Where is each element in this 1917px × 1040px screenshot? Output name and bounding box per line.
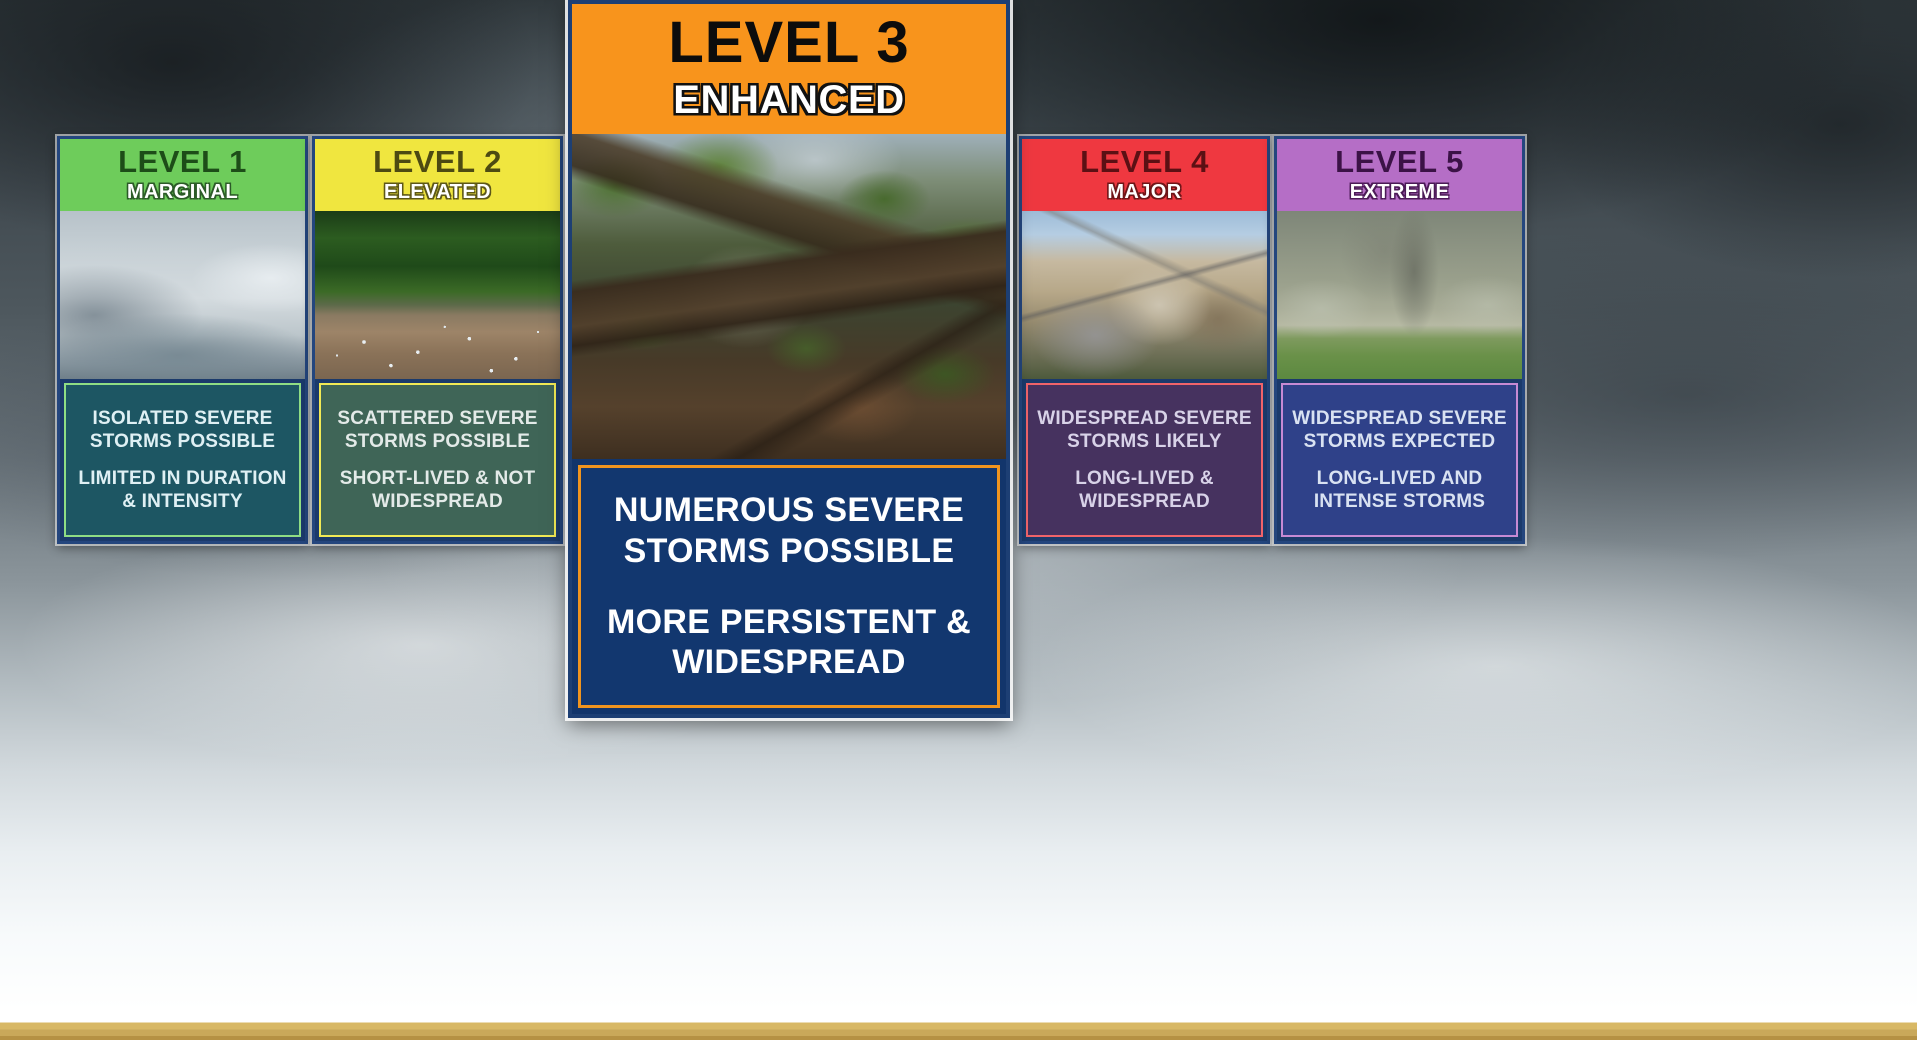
risk-card-level-4-level-label: LEVEL 4 <box>1026 146 1263 177</box>
risk-card-level-2[interactable]: LEVEL 2 ELEVATED SCATTERED SEVERE STORMS… <box>312 136 563 544</box>
risk-card-level-1-header: LEVEL 1 MARGINAL <box>60 139 305 211</box>
risk-card-level-4[interactable]: LEVEL 4 MAJOR WIDESPREAD SEVERE STORMS L… <box>1019 136 1270 544</box>
risk-card-level-1-level-label: LEVEL 1 <box>64 146 301 177</box>
risk-card-level-3-header: LEVEL 3 ENHANCED <box>572 4 1006 134</box>
risk-card-level-3-level-label: LEVEL 3 <box>578 14 1000 72</box>
severe-weather-risk-graphic: LEVEL 1 MARGINAL ISOLATED SEVERE STORMS … <box>0 0 1917 1040</box>
risk-card-level-1[interactable]: LEVEL 1 MARGINAL ISOLATED SEVERE STORMS … <box>57 136 308 544</box>
risk-card-level-4-text-wrap: WIDESPREAD SEVERE STORMS LIKELY LONG-LIV… <box>1022 379 1267 541</box>
risk-card-level-2-text-panel: SCATTERED SEVERE STORMS POSSIBLE SHORT-L… <box>319 383 556 537</box>
destroyed-house-photo <box>1022 211 1267 379</box>
risk-card-level-1-text-panel: ISOLATED SEVERE STORMS POSSIBLE LIMITED … <box>64 383 301 537</box>
risk-level-card-row: LEVEL 1 MARGINAL ISOLATED SEVERE STORMS … <box>0 0 1917 1040</box>
rain-shower-over-water-photo <box>60 211 305 379</box>
risk-card-level-2-text-wrap: SCATTERED SEVERE STORMS POSSIBLE SHORT-L… <box>315 379 560 541</box>
risk-card-level-4-header: LEVEL 4 MAJOR <box>1022 139 1267 211</box>
risk-card-level-5-header: LEVEL 5 EXTREME <box>1277 139 1522 211</box>
risk-card-level-5-text-wrap: WIDESPREAD SEVERE STORMS EXPECTED LONG-L… <box>1277 379 1522 541</box>
risk-card-level-1-text-wrap: ISOLATED SEVERE STORMS POSSIBLE LIMITED … <box>60 379 305 541</box>
risk-card-level-4-text-panel: WIDESPREAD SEVERE STORMS LIKELY LONG-LIV… <box>1026 383 1263 537</box>
risk-card-level-4-line-1: WIDESPREAD SEVERE STORMS LIKELY <box>1037 407 1252 453</box>
risk-card-level-4-risk-name: MAJOR <box>1026 182 1263 202</box>
risk-card-level-1-line-2: LIMITED IN DURATION & INTENSITY <box>78 467 286 513</box>
tree-fallen-on-house-photo <box>572 134 1006 459</box>
risk-card-level-2-risk-name: ELEVATED <box>319 182 556 202</box>
risk-card-level-2-line-2: SHORT-LIVED & NOT WIDESPREAD <box>340 467 536 513</box>
risk-card-level-5-line-1: WIDESPREAD SEVERE STORMS EXPECTED <box>1292 407 1507 453</box>
risk-card-level-1-risk-name: MARGINAL <box>64 182 301 202</box>
risk-card-level-3-risk-name: ENHANCED <box>578 80 1000 120</box>
risk-card-level-2-level-label: LEVEL 2 <box>319 146 556 177</box>
risk-card-level-5-text-panel: WIDESPREAD SEVERE STORMS EXPECTED LONG-L… <box>1281 383 1518 537</box>
risk-card-level-3-line-2: MORE PERSISTENT & WIDESPREAD <box>607 602 971 684</box>
risk-card-level-5-risk-name: EXTREME <box>1281 182 1518 202</box>
tornado-over-field-photo <box>1277 211 1522 379</box>
risk-card-level-3-featured[interactable]: LEVEL 3 ENHANCED NUMEROUS SEVERE STORMS … <box>568 0 1010 718</box>
risk-card-level-4-line-2: LONG-LIVED & WIDESPREAD <box>1075 467 1214 513</box>
risk-card-level-2-line-1: SCATTERED SEVERE STORMS POSSIBLE <box>337 407 537 453</box>
risk-card-level-5-line-2: LONG-LIVED AND INTENSE STORMS <box>1314 467 1485 513</box>
risk-card-level-1-line-1: ISOLATED SEVERE STORMS POSSIBLE <box>90 407 275 453</box>
risk-card-level-3-line-1: NUMEROUS SEVERE STORMS POSSIBLE <box>614 490 964 572</box>
risk-card-level-3-text-panel: NUMEROUS SEVERE STORMS POSSIBLE MORE PER… <box>578 465 1000 708</box>
risk-card-level-5[interactable]: LEVEL 5 EXTREME WIDESPREAD SEVERE STORMS… <box>1274 136 1525 544</box>
hail-on-ground-photo <box>315 211 560 379</box>
risk-card-level-3-text-wrap: NUMEROUS SEVERE STORMS POSSIBLE MORE PER… <box>572 459 1006 714</box>
risk-card-level-5-level-label: LEVEL 5 <box>1281 146 1518 177</box>
risk-card-level-2-header: LEVEL 2 ELEVATED <box>315 139 560 211</box>
